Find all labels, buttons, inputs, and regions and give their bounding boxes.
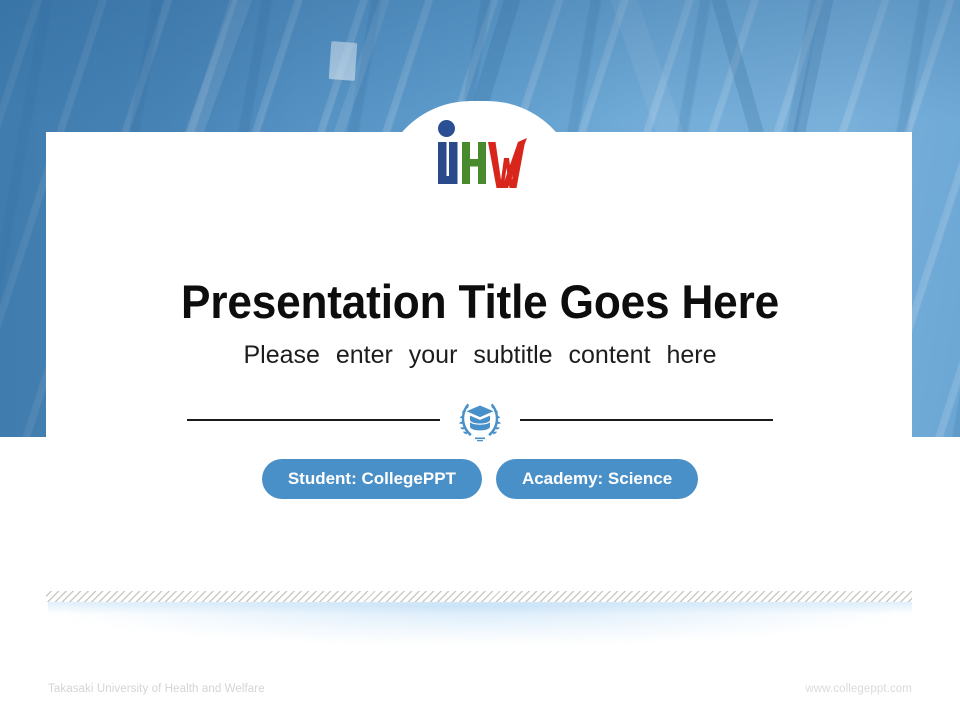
divider-line-left [187,419,440,421]
graduation-cap-laurel-icon [452,396,508,444]
logo-bar-blue-base [438,176,458,184]
academy-pill-button[interactable]: Academy: Science [496,459,698,499]
logo-bar-green-cross [462,159,486,167]
page-subtitle: Please enter your subtitle content here [0,339,960,371]
divider-line-right [520,419,773,421]
presentation-slide: Presentation Title Goes Here Please ente… [0,0,960,720]
page-title: Presentation Title Goes Here [29,274,931,330]
card-drop-glow-edge [48,600,912,614]
meta-pill-group: Student: CollegePPT Academy: Science [0,459,960,499]
logo-dot [438,120,455,137]
card-bottom-hatch-stripe [46,591,912,602]
student-pill-button[interactable]: Student: CollegePPT [262,459,482,499]
divider [0,396,960,444]
footer-institution-name: Takasaki University of Health and Welfar… [48,683,265,695]
footer-website-url[interactable]: www.collegeppt.com [805,683,912,695]
university-logo [432,118,528,198]
